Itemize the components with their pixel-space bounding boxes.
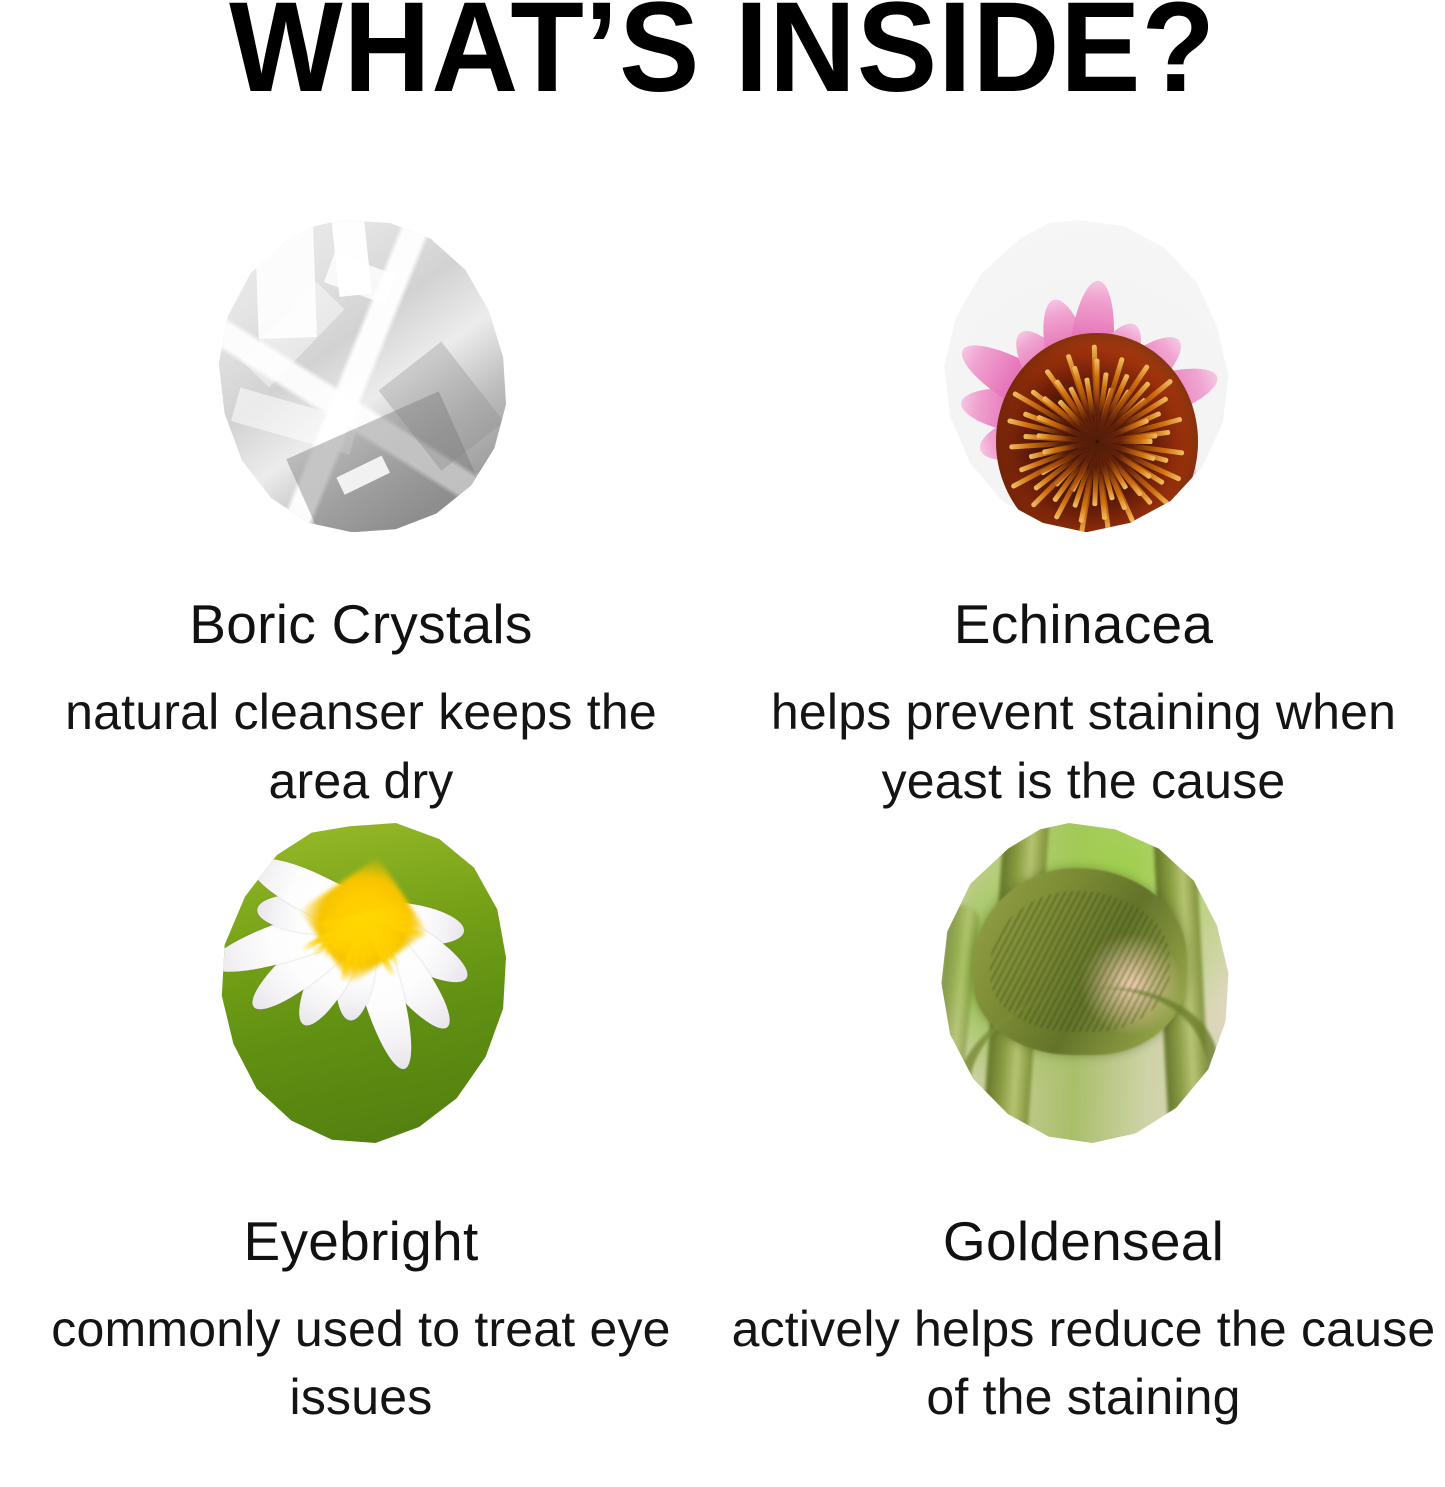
ingredient-name: Boric Crystals — [189, 596, 532, 654]
ingredient-description: helps prevent staining when yeast is the… — [739, 678, 1429, 815]
eyebright-flower — [216, 823, 506, 1143]
ingredient-name: Goldenseal — [943, 1213, 1224, 1271]
ingredient-description: commonly used to treat eye issues — [4, 1295, 719, 1432]
ingredient-description: natural cleanser keeps the area dry — [16, 678, 706, 815]
goldenseal-image — [939, 823, 1229, 1143]
ingredient-grid: Boric Crystals natural cleanser keeps th… — [0, 150, 1445, 1435]
ingredient-card-goldenseal: Goldenseal actively helps reduce the cau… — [722, 815, 1445, 1435]
whats-inside-infographic: WHAT’S INSIDE? Boric Crystals natural cl… — [0, 0, 1445, 1487]
ingredient-description: actively helps reduce the cause of the s… — [726, 1295, 1441, 1432]
ingredient-card-eyebright: Eyebright commonly used to treat eye iss… — [0, 815, 722, 1435]
ingredient-name: Echinacea — [954, 596, 1214, 654]
eyebright-image — [216, 823, 506, 1143]
crystal-texture — [216, 220, 506, 532]
goldenseal-plant — [939, 823, 1229, 1143]
boric-crystal-image — [216, 220, 506, 532]
echinacea-flower — [939, 220, 1229, 532]
ingredient-name: Eyebright — [243, 1213, 478, 1271]
page-title: WHAT’S INSIDE? — [43, 0, 1401, 112]
echinacea-image — [939, 220, 1229, 532]
ingredient-card-echinacea: Echinacea helps prevent staining when ye… — [722, 150, 1445, 815]
ingredient-card-boric-crystals: Boric Crystals natural cleanser keeps th… — [0, 150, 722, 815]
